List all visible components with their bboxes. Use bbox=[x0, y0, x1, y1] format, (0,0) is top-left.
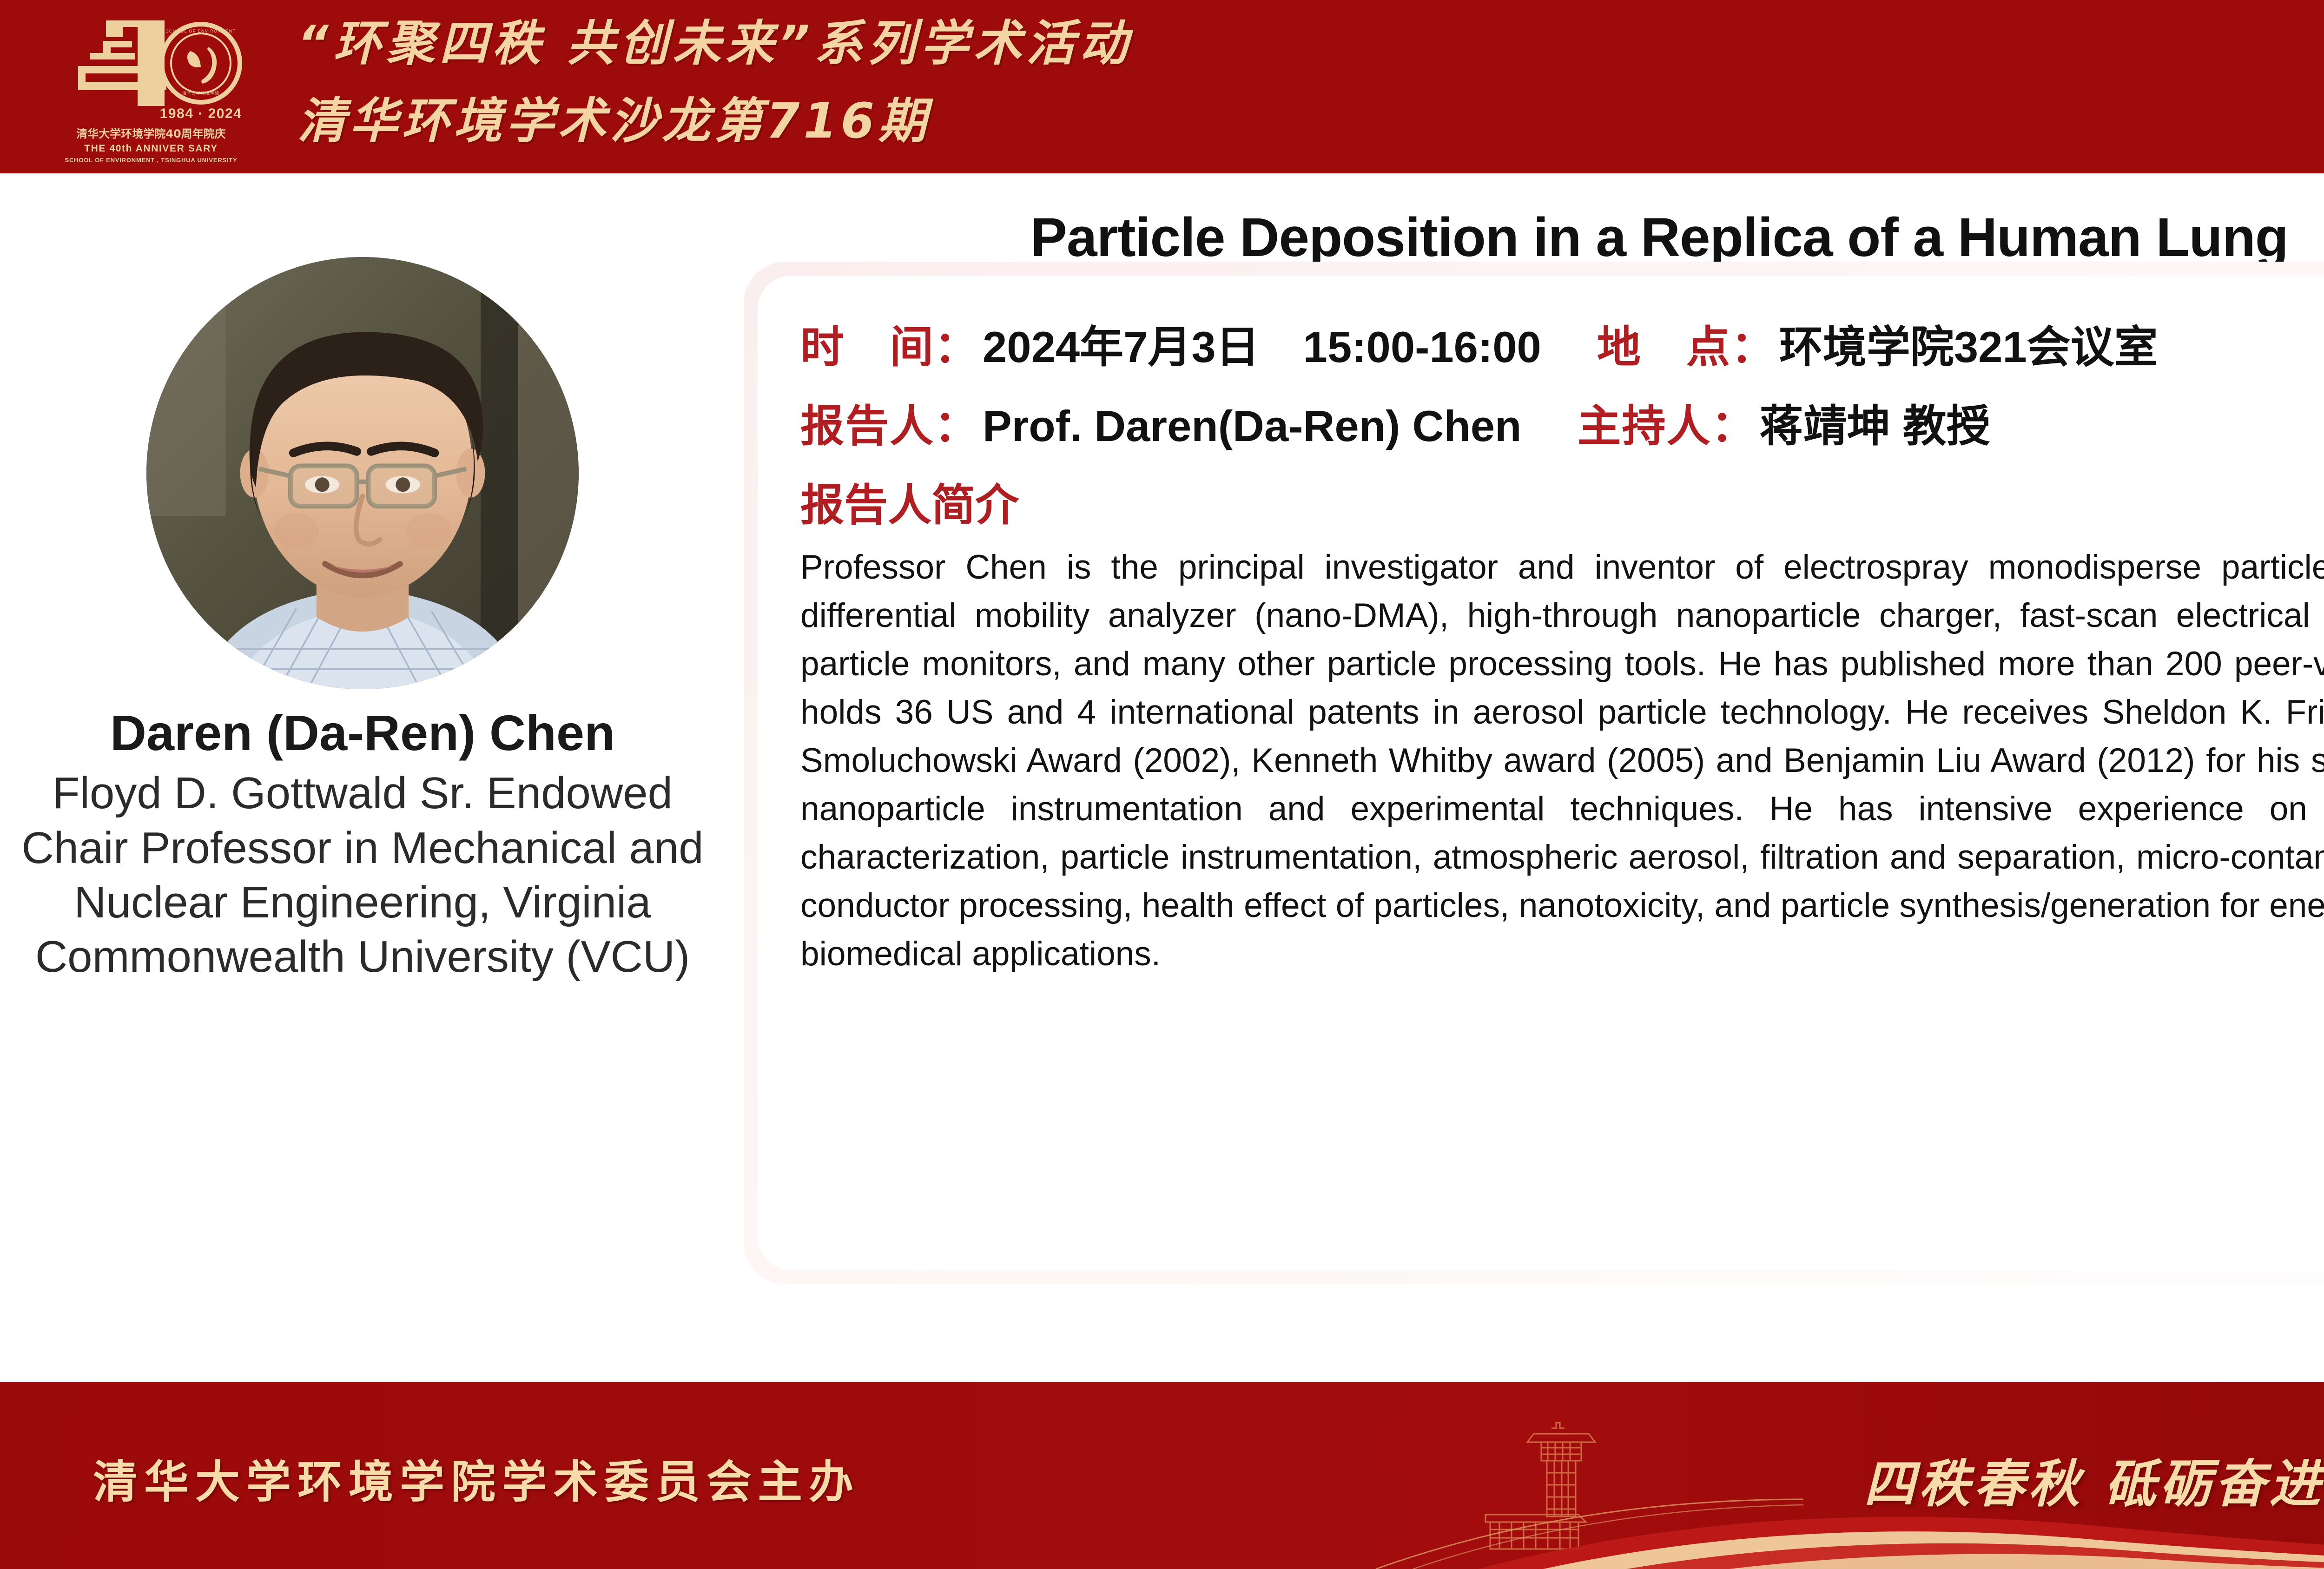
speaker-name: Daren (Da-Ren) Chen bbox=[0, 703, 725, 762]
header-series-title: “环聚四秩 共创未来”系列学术活动 bbox=[297, 4, 2324, 83]
bio-text: Professor Chen is the principal investig… bbox=[800, 543, 2324, 978]
presenter-host-row: 报告人： Prof. Daren(Da-Ren) Chen 主持人： 蒋靖坤 教… bbox=[800, 391, 2324, 454]
footer-banner: 清华大学环境学院学术委员会主办 四秩春秋 砥砺奋进 bbox=[0, 1382, 2324, 1569]
anniversary-logo: SCHOOL OF ENVIRONMENT 清华大学环境学院 1984 · 20… bbox=[51, 8, 251, 166]
info-card-wrapper: 时 间： 2024年7月3日 15:00-16:00 地 点： 环境学院321会… bbox=[744, 262, 2324, 1284]
footer-organizer: 清华大学环境学院学术委员会主办 bbox=[93, 1446, 860, 1510]
avatar bbox=[146, 257, 579, 689]
logo-en-line2: SCHOOL OF ENVIRONMENT , TSINGHUA UNIVERS… bbox=[65, 157, 238, 164]
seal-bottom-text: 清华大学环境学院 bbox=[182, 91, 219, 96]
header-event-series: 清华环境学术沙龙第716期 bbox=[297, 83, 2324, 159]
logo-cn-line: 清华大学环境学院40周年院庆 bbox=[76, 127, 225, 140]
logo-year-range: 1984 · 2024 bbox=[160, 106, 242, 121]
speaker-column: Daren (Da-Ren) Chen Floyd D. Gottwald Sr… bbox=[0, 257, 725, 984]
speaker-affiliation: Floyd D. Gottwald Sr. Endowed Chair Prof… bbox=[0, 766, 725, 983]
bio-heading: 报告人简介 bbox=[800, 470, 2324, 533]
anniversary-logo-icon: SCHOOL OF ENVIRONMENT 清华大学环境学院 1984 · 20… bbox=[51, 8, 251, 166]
time-place-row: 时 间： 2024年7月3日 15:00-16:00 地 点： 环境学院321会… bbox=[800, 312, 2324, 375]
host-value: 蒋靖坤 教授 bbox=[1759, 391, 1990, 454]
seal-top-text: SCHOOL OF ENVIRONMENT bbox=[165, 29, 236, 33]
info-card: 时 间： 2024年7月3日 15:00-16:00 地 点： 环境学院321会… bbox=[758, 276, 2324, 1270]
presenter-value: Prof. Daren(Da-Ren) Chen bbox=[983, 401, 1521, 451]
main-content: Particle Deposition in a Replica of a Hu… bbox=[0, 173, 2324, 1382]
logo-en-line1: THE 40th ANNIVER SARY bbox=[84, 143, 218, 154]
time-label: 时 间： bbox=[800, 312, 979, 375]
page-title: Particle Deposition in a Replica of a Hu… bbox=[744, 206, 2324, 269]
presenter-label: 报告人： bbox=[800, 391, 979, 454]
footer-slogan: 四秩春秋 砥砺奋进 bbox=[1864, 1442, 2324, 1516]
time-value: 2024年7月3日 15:00-16:00 bbox=[983, 312, 1541, 375]
header-banner: SCHOOL OF ENVIRONMENT 清华大学环境学院 1984 · 20… bbox=[0, 0, 2324, 173]
speaker-portrait bbox=[146, 257, 579, 689]
header-titles: “环聚四秩 共创未来”系列学术活动 清华环境学术沙龙第716期 bbox=[297, 4, 2324, 166]
place-label: 地 点： bbox=[1597, 312, 1776, 375]
place-value: 环境学院321会议室 bbox=[1779, 312, 2158, 375]
host-label: 主持人： bbox=[1577, 391, 1756, 454]
